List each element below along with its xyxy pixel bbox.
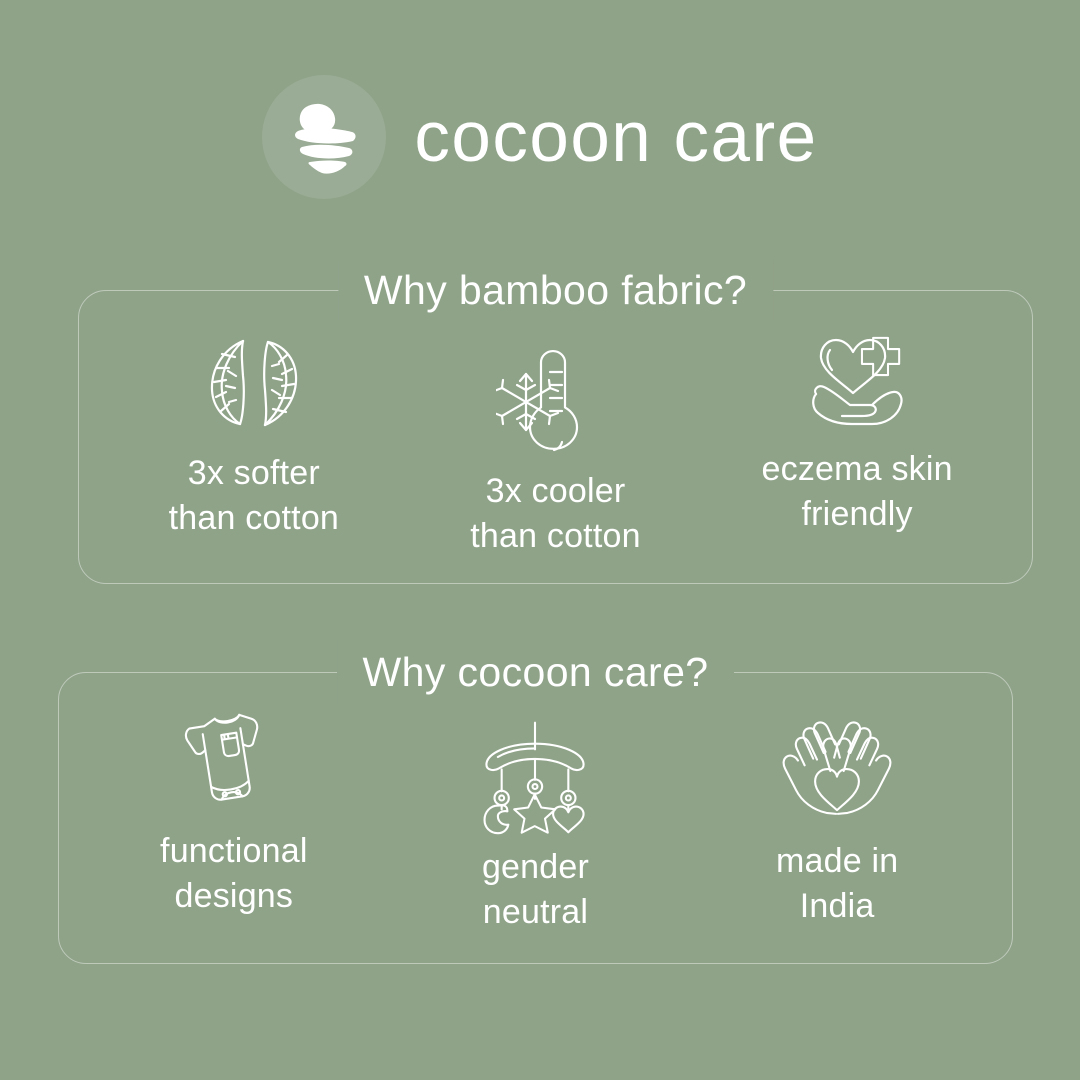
feature-item-gender-neutral: gender neutral <box>385 717 685 935</box>
feature-item-softer: 3x softer than cotton <box>104 323 404 541</box>
baby-mobile-icon <box>475 717 595 837</box>
baby-onesie-icon <box>174 701 294 821</box>
hand-heart-cross-icon <box>797 319 917 439</box>
feature-label-functional-designs: functional designs <box>160 829 308 919</box>
cocoon-sun-waves-logo-icon <box>262 75 386 199</box>
feature-item-cooler: 3x cooler than cotton <box>405 341 705 559</box>
feature-label-softer: 3x softer than cotton <box>169 451 339 541</box>
section-card-bamboo: Why bamboo fabric? <box>78 290 1033 584</box>
brand-wordmark: cocoon care <box>414 102 817 173</box>
feature-row-bamboo: 3x softer than cotton <box>79 291 1032 583</box>
feathers-icon <box>194 323 314 443</box>
section-card-brand: Why cocoon care? <box>58 672 1013 964</box>
feature-label-eczema: eczema skin friendly <box>762 447 953 537</box>
feature-item-eczema: eczema skin friendly <box>707 319 1007 537</box>
feature-label-cooler: 3x cooler than cotton <box>470 469 640 559</box>
feature-item-functional-designs: functional designs <box>84 701 384 919</box>
feature-row-brand: functional designs <box>59 673 1012 963</box>
feature-item-made-in-india: made in India <box>687 711 987 929</box>
feature-label-gender-neutral: gender neutral <box>482 845 589 935</box>
brand-header: cocoon care <box>0 72 1080 202</box>
hands-heart-icon <box>777 711 897 831</box>
thermometer-snowflake-icon <box>495 341 615 461</box>
feature-label-made-in-india: made in India <box>776 839 898 929</box>
